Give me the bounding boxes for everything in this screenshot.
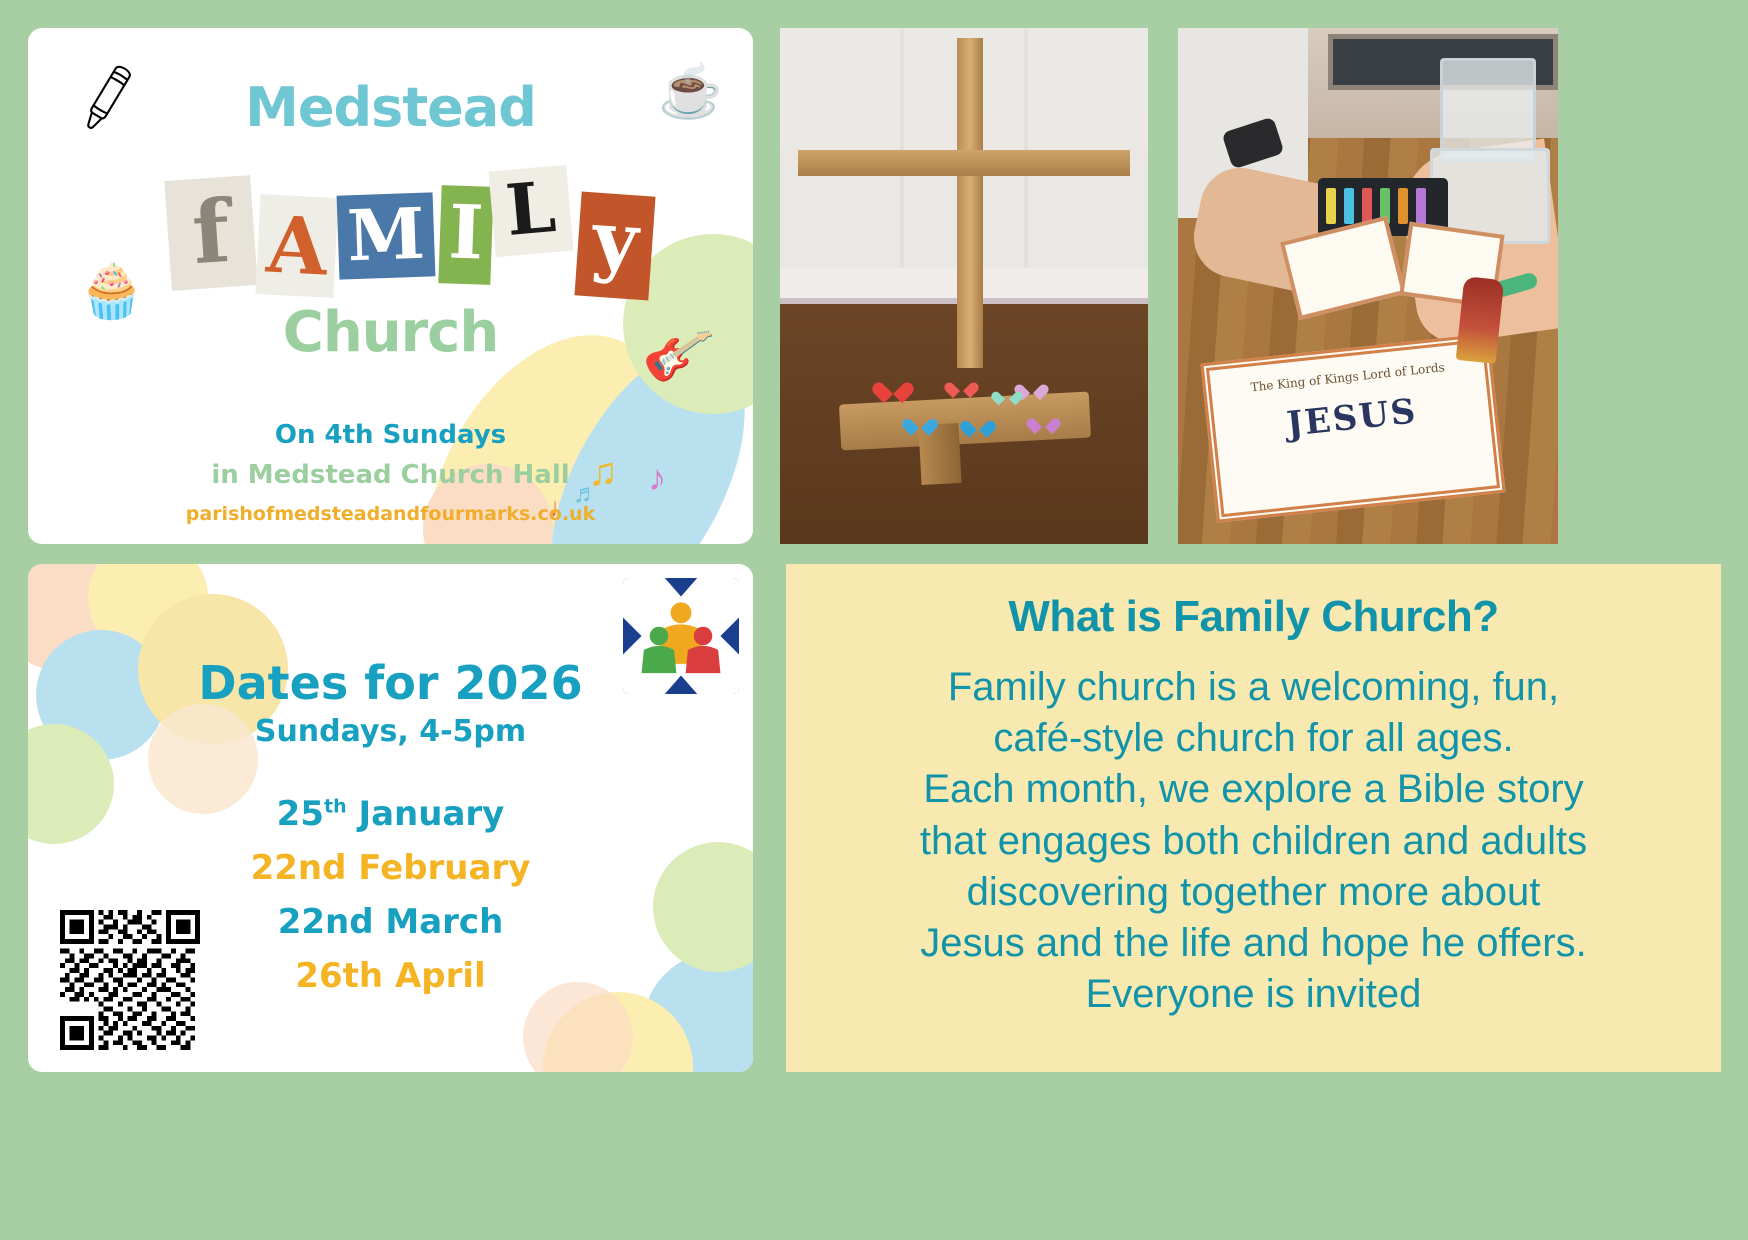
about-line-1: Family church is a welcoming, fun, [820,662,1687,713]
qr-code[interactable] [60,910,200,1050]
ransom-note-family-word: f A M I L y [148,168,668,298]
pen-orange [1398,188,1408,224]
clay-heart-blue [908,412,930,432]
craft-jesus-sheet: The King of Kings Lord of Lords JESUS [1200,333,1505,522]
about-line-4: that engages both children and adults [820,816,1687,867]
pen-red [1362,188,1372,224]
ransom-letter-i: I [438,185,493,285]
pen-blue [1344,188,1354,224]
date-month-1: January [358,794,504,834]
date-month-3: March [385,902,503,942]
ransom-letter-f: f [164,175,257,291]
cross-horizontal-arm [798,150,1130,176]
date-row-1: 25th January [28,794,753,834]
date-suffix-1: th [324,796,347,818]
ransom-letter-a: A [255,194,338,298]
poster-schedule-line: On 4th Sundays [28,420,753,450]
clay-heart-purple [1032,412,1052,430]
date-month-2: February [358,848,530,888]
about-panel: What is Family Church? Family church is … [786,564,1721,1072]
about-line-2: café-style church for all ages. [820,713,1687,764]
about-line-7: Everyone is invited [820,969,1687,1020]
date-day-2: 22nd [251,848,347,888]
photo-craft-table: The King of Kings Lord of Lords JESUS [1178,28,1558,544]
cross-vertical-post [957,38,983,368]
date-month-4: April [395,956,486,996]
clay-heart-red [880,374,906,398]
photo-wooden-cross [780,28,1148,544]
poster-title-church: Church [28,300,753,365]
craft-sheet-title: JESUS [1214,384,1491,452]
about-heading: What is Family Church? [820,592,1687,642]
craft-storage-box [1440,58,1536,162]
dates-heading: Dates for 2026 [28,656,753,710]
pen-yellow [1326,188,1336,224]
poster-title-medstead: Medstead [28,76,753,139]
pen-purple [1416,188,1426,224]
date-row-2: 22nd February [28,848,753,888]
dates-subheading: Sundays, 4-5pm [28,714,753,749]
about-line-6: Jesus and the life and hope he offers. [820,918,1687,969]
ransom-letter-y: y [574,192,655,301]
date-day-1: 25 [277,794,324,834]
ransom-letter-m: M [337,192,436,279]
dates-panel: Dates for 2026 Sundays, 4-5pm 25th Janua… [28,564,753,1072]
date-day-4: 26th [295,956,383,996]
clay-heart-pink [1020,378,1040,396]
ransom-letter-l: L [488,165,573,257]
about-line-3: Each month, we explore a Bible story [820,764,1687,815]
about-line-5: discovering together more about [820,867,1687,918]
clay-heart-mint [996,386,1014,402]
clay-heart-coral [950,376,970,394]
poster-venue-line: in Medstead Church Hall [28,460,753,490]
family-church-poster: 🖍 ☕ 🧁 🎸 ♫ ♪ ♩ ♬ Medstead f A M I L y Chu… [28,28,753,544]
date-day-3: 22nd [278,902,374,942]
poster-website-url[interactable]: parishofmedsteadandfourmarks.co.uk [28,503,753,525]
poster-page: 🖍 ☕ 🧁 🎸 ♫ ♪ ♩ ♬ Medstead f A M I L y Chu… [0,0,1748,1240]
clay-heart-blue-2 [966,414,988,434]
